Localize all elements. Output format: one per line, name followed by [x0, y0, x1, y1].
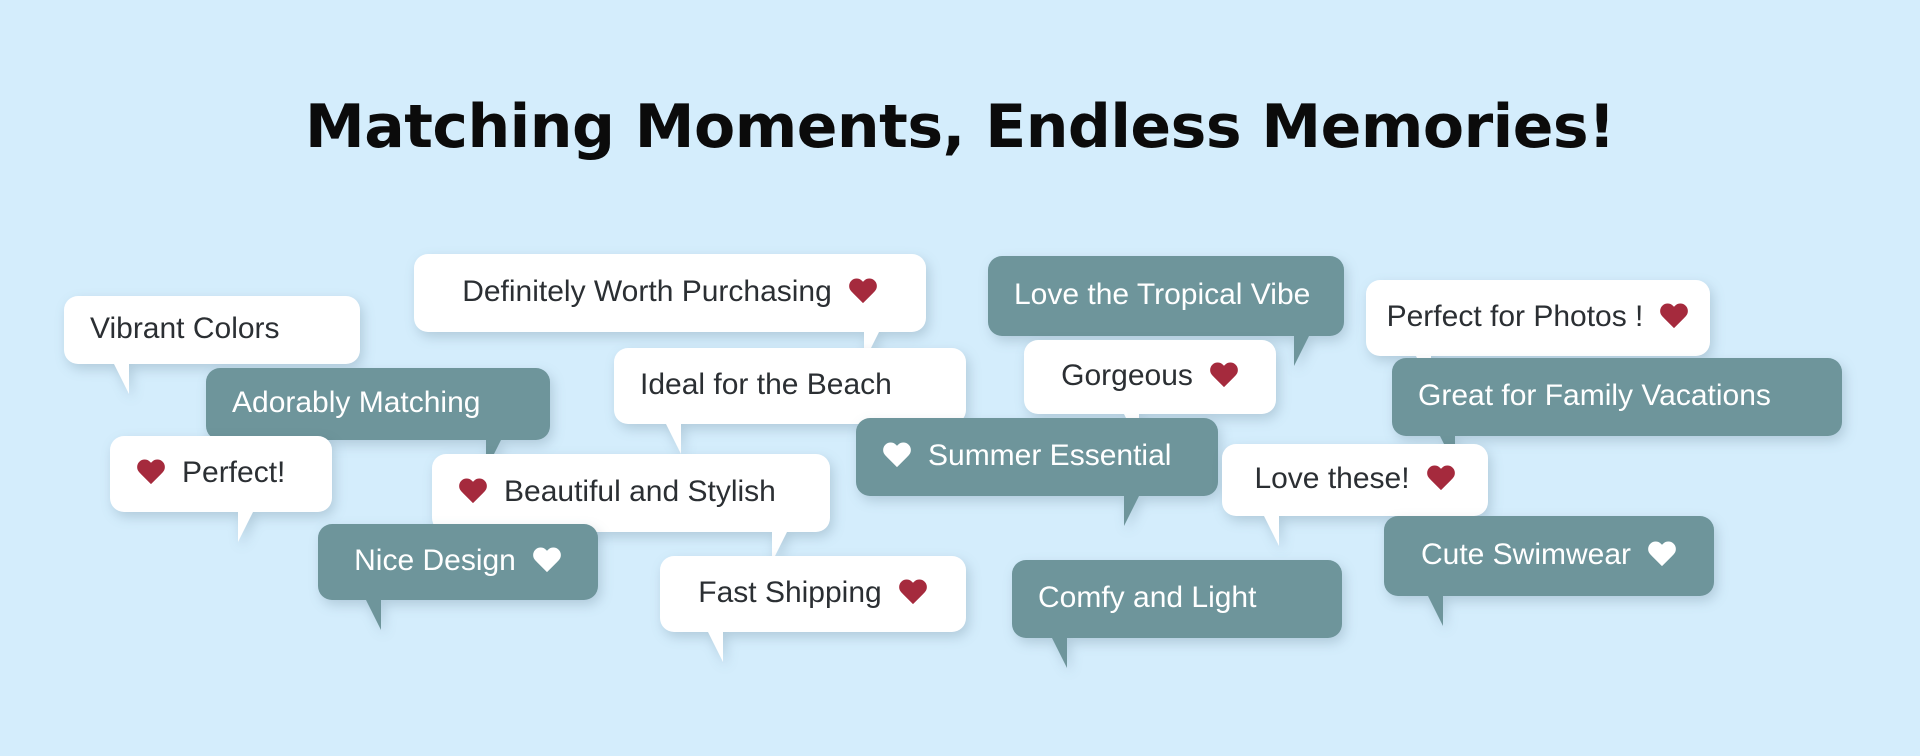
bubble-label: Definitely Worth Purchasing	[462, 277, 832, 307]
bubble-label: Summer Essential	[928, 441, 1171, 471]
bubble-label: Great for Family Vacations	[1418, 381, 1771, 411]
heart-icon	[848, 279, 878, 307]
bubble-tail	[1052, 638, 1067, 668]
speech-bubble-ideal-for-the-beach[interactable]: Ideal for the Beach	[614, 348, 966, 424]
bubble-tail	[708, 632, 723, 662]
heart-icon	[1647, 542, 1677, 570]
speech-bubble-summer-essential[interactable]: Summer Essential	[856, 418, 1218, 496]
speech-bubble-perfect[interactable]: Perfect!	[110, 436, 332, 512]
bubble-label: Love the Tropical Vibe	[1014, 280, 1310, 310]
speech-bubble-beautiful-and-stylish[interactable]: Beautiful and Stylish	[432, 454, 830, 532]
speech-bubble-gorgeous[interactable]: Gorgeous	[1024, 340, 1276, 414]
speech-bubble-love-the-tropical-vibe[interactable]: Love the Tropical Vibe	[988, 256, 1344, 336]
bubble-label: Adorably Matching	[232, 388, 480, 418]
bubble-label: Gorgeous	[1061, 361, 1193, 391]
bubble-tail	[114, 364, 129, 394]
heart-icon	[532, 548, 562, 576]
bubble-label: Beautiful and Stylish	[504, 477, 776, 507]
speech-bubble-comfy-and-light[interactable]: Comfy and Light	[1012, 560, 1342, 638]
bubble-tail	[238, 512, 253, 542]
bubble-label: Comfy and Light	[1038, 583, 1256, 613]
bubble-tail	[666, 424, 681, 454]
speech-bubble-definitely-worth-purchasing[interactable]: Definitely Worth Purchasing	[414, 254, 926, 332]
speech-bubble-love-these[interactable]: Love these!	[1222, 444, 1488, 516]
bubble-label: Ideal for the Beach	[640, 370, 892, 400]
page-title: Matching Moments, Endless Memories!	[0, 92, 1920, 162]
speech-bubble-fast-shipping[interactable]: Fast Shipping	[660, 556, 966, 632]
heart-icon	[882, 443, 912, 471]
reviews-bubble-collage: Matching Moments, Endless Memories! Vibr…	[0, 0, 1920, 756]
speech-bubble-cute-swimwear[interactable]: Cute Swimwear	[1384, 516, 1714, 596]
heart-icon	[136, 460, 166, 488]
bubble-label: Cute Swimwear	[1421, 540, 1631, 570]
bubble-tail	[1294, 336, 1309, 366]
bubble-tail	[1428, 596, 1443, 626]
heart-icon	[458, 479, 488, 507]
bubble-tail	[1124, 496, 1139, 526]
heart-icon	[898, 580, 928, 608]
heart-icon	[1209, 363, 1239, 391]
bubble-label: Vibrant Colors	[90, 314, 280, 344]
bubble-label: Perfect!	[182, 458, 285, 488]
heart-icon	[1659, 304, 1689, 332]
bubble-tail	[1264, 516, 1279, 546]
bubble-label: Love these!	[1254, 464, 1409, 494]
speech-bubble-vibrant-colors[interactable]: Vibrant Colors	[64, 296, 360, 364]
bubble-label: Nice Design	[354, 546, 516, 576]
speech-bubble-perfect-for-photos[interactable]: Perfect for Photos !	[1366, 280, 1710, 356]
heart-icon	[1426, 466, 1456, 494]
bubble-tail	[366, 600, 381, 630]
speech-bubble-nice-design[interactable]: Nice Design	[318, 524, 598, 600]
bubble-label: Perfect for Photos !	[1387, 302, 1644, 332]
speech-bubble-great-for-family-vacations[interactable]: Great for Family Vacations	[1392, 358, 1842, 436]
speech-bubble-adorably-matching[interactable]: Adorably Matching	[206, 368, 550, 440]
bubble-label: Fast Shipping	[698, 578, 881, 608]
